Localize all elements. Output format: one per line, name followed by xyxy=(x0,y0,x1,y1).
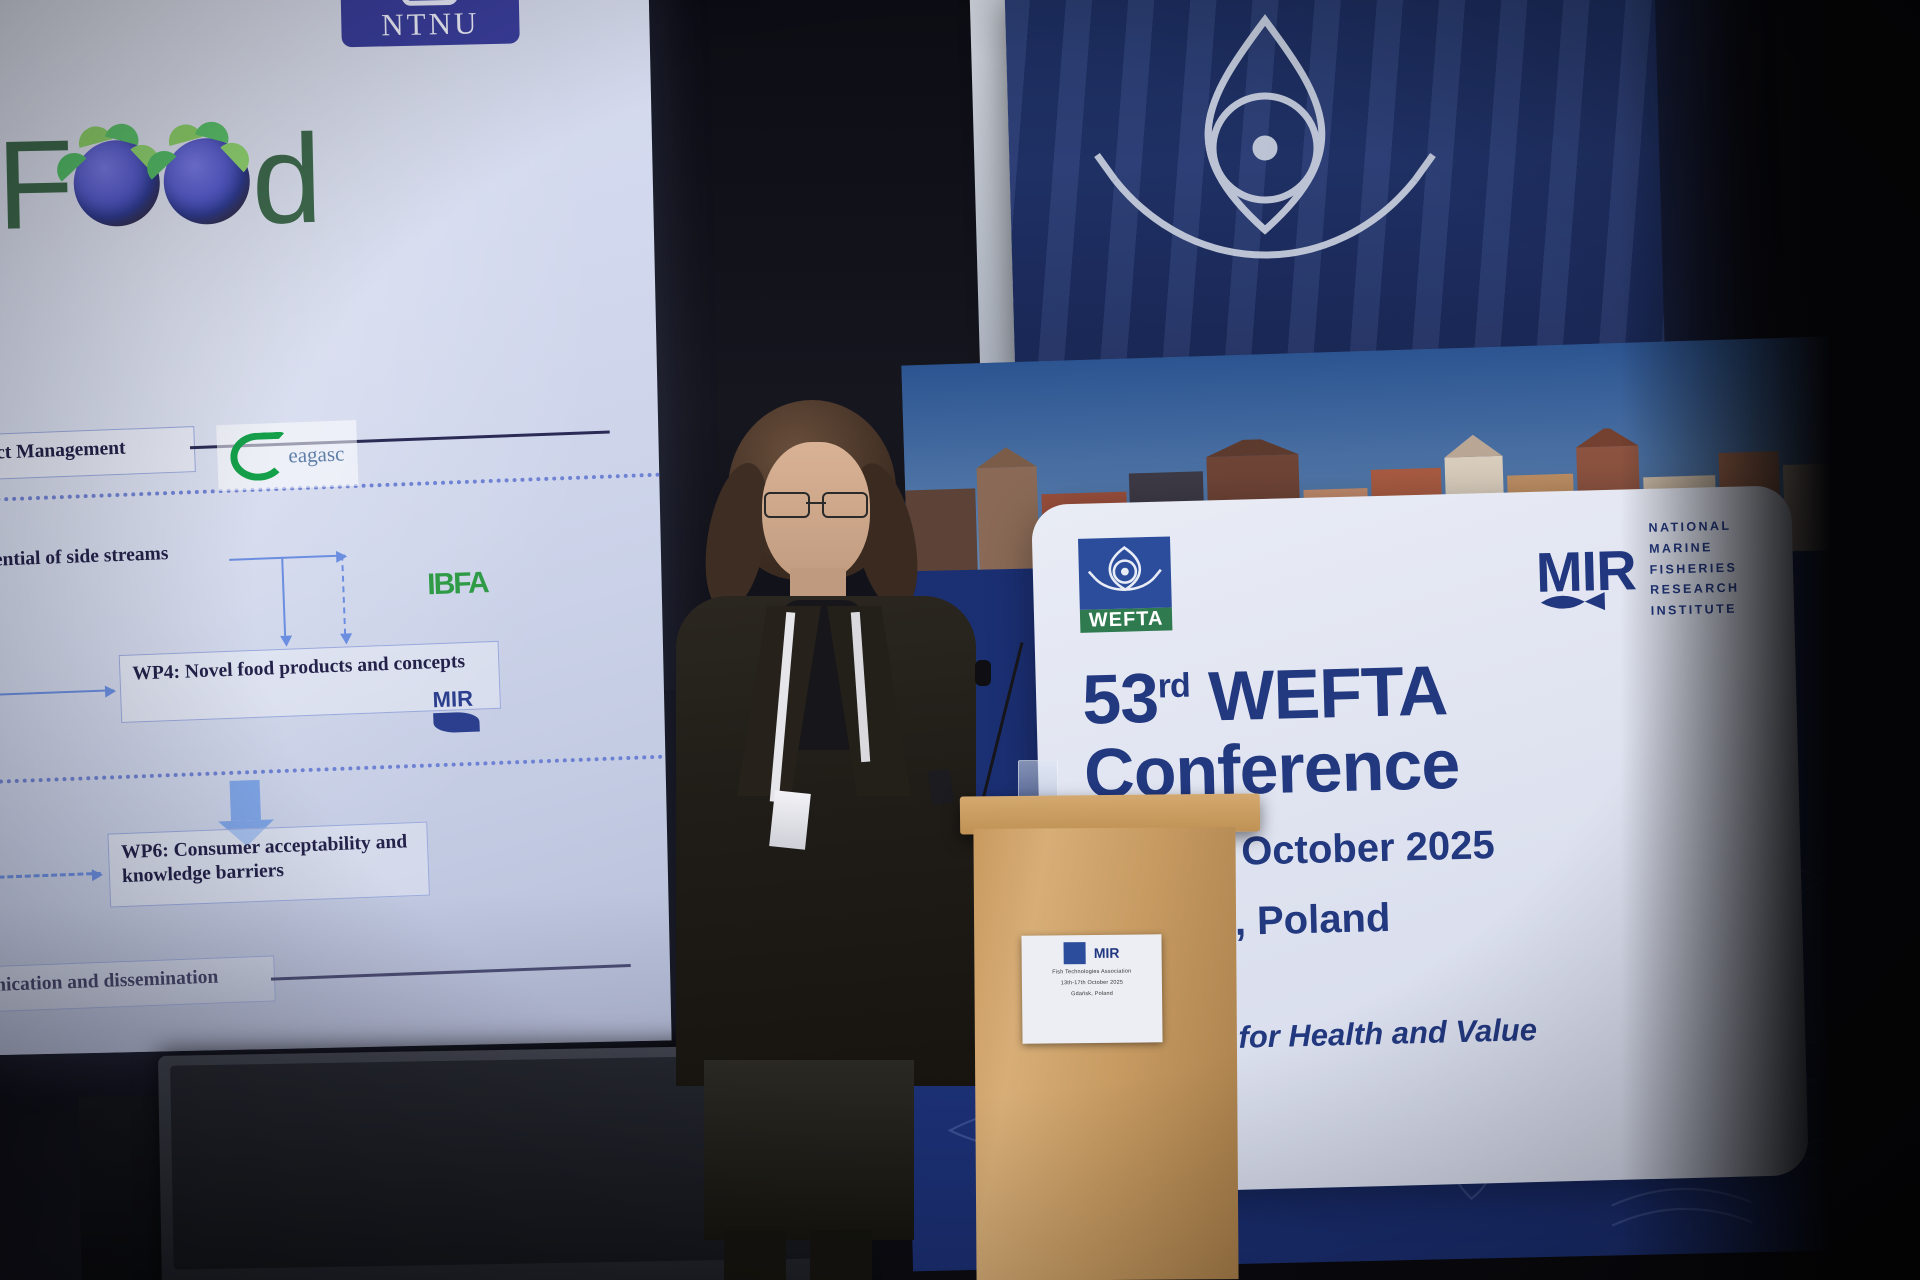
podium-body xyxy=(973,827,1238,1280)
title-char-f: F xyxy=(0,111,73,258)
arrow-teagasc-down xyxy=(281,557,286,637)
workpackage-diagram: P1: Project Management tritive potential… xyxy=(0,417,662,924)
mir-fish-icon xyxy=(433,712,480,734)
conference-ordinal: rd xyxy=(1157,667,1190,706)
screen-bottom-shade xyxy=(0,890,672,1055)
globe-o-icon-2 xyxy=(163,137,251,225)
speaker-presenter xyxy=(660,400,990,1080)
date-month-year: October 2025 xyxy=(1241,823,1496,874)
wp6-box: WP6: Consumer acceptability and knowledg… xyxy=(107,822,430,908)
teagasc-mark-icon xyxy=(230,432,288,482)
right-dark-edge xyxy=(1620,0,1920,1280)
wefta-triquetra-icon xyxy=(1078,536,1172,609)
teagasc-logo: eagasc xyxy=(216,420,358,491)
podium-sign-line1: Fish Technologies Association xyxy=(1052,969,1131,976)
dotted-rule-bottom xyxy=(0,754,672,787)
arrow-connector xyxy=(229,554,345,560)
wefta-logo: WEFTA xyxy=(1078,536,1172,630)
mir-logo-small: MIR xyxy=(432,685,498,743)
globe-o-icon-1 xyxy=(73,139,161,227)
fat-down-arrow-icon xyxy=(230,780,261,821)
speaker-leg-right xyxy=(810,1230,872,1280)
conference-title-line1: 53rd WEFTA xyxy=(1081,654,1458,737)
title-char-d: d xyxy=(250,106,321,252)
arrow-dashed-to-wp6 xyxy=(0,872,101,879)
microphone-icon xyxy=(975,660,991,686)
ntnu-logo: NTNU xyxy=(340,0,520,47)
wp1-box: P1: Project Management xyxy=(0,426,196,483)
slide-title-4food: 4 F d xyxy=(0,106,321,260)
arrow-sintef-to-wp4 xyxy=(0,689,114,696)
speaker-skirt xyxy=(704,1060,914,1240)
ntnu-label: NTNU xyxy=(381,7,480,40)
conference-number: 53 xyxy=(1081,659,1159,739)
podium-sign: MIR Fish Technologies Association 13th-1… xyxy=(1021,934,1162,1043)
speaker-glasses-icon xyxy=(764,492,868,514)
presentation-clicker xyxy=(928,769,955,806)
conference-org: WEFTA xyxy=(1207,651,1448,735)
arrow-dashed-down xyxy=(341,555,346,635)
conference-photo-stage: NTNU 4 F d P1: Project Management tritiv… xyxy=(0,0,1920,1280)
triquetra-icon xyxy=(1055,0,1475,350)
projection-screen: NTNU 4 F d P1: Project Management tritiv… xyxy=(0,0,672,1055)
mir-fish-icon xyxy=(1539,590,1614,614)
name-badge xyxy=(769,790,811,849)
podium-wefta-icon xyxy=(1064,942,1086,964)
podium-sign-line3: Gdańsk, Poland xyxy=(1071,991,1113,997)
conference-title: 53rd WEFTA Conference xyxy=(1081,654,1460,811)
podium-sign-logos: MIR xyxy=(1064,942,1120,965)
ibfa-logo: IBFA xyxy=(427,566,489,602)
side-streams-label: tritive potential of side streams xyxy=(0,533,220,589)
podium-sign-line2: 13th-17th October 2025 xyxy=(1061,980,1124,987)
speaker-leg-left xyxy=(724,1230,786,1280)
podium-mir-label: MIR xyxy=(1094,945,1120,961)
wefta-wordmark: WEFTA xyxy=(1080,607,1173,632)
